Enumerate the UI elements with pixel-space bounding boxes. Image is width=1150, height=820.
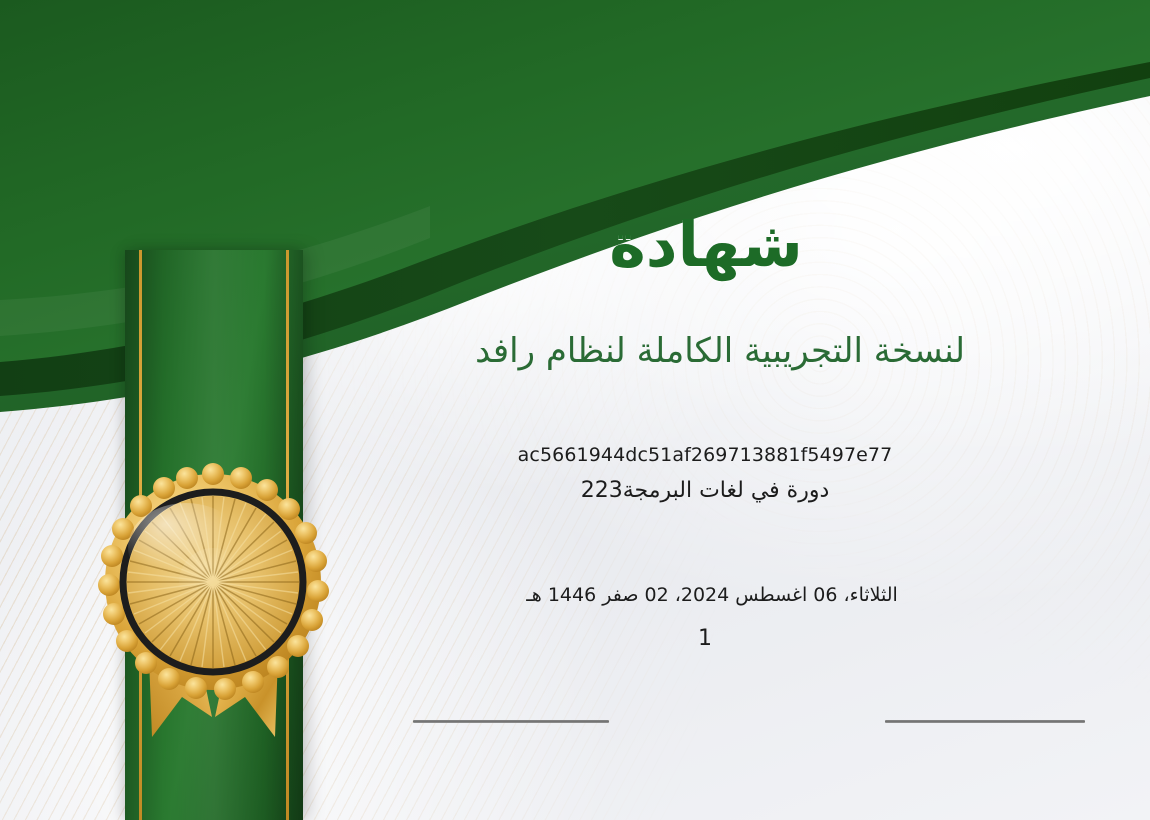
course-name: دورة في لغات البرمجة223 <box>330 478 1080 503</box>
certificate-subtitle: لنسخة التجريبية الكاملة لنظام رافد <box>330 330 1110 373</box>
signature-line-right <box>885 720 1085 723</box>
serial-number: 1 <box>330 626 1080 651</box>
certificate-content: شهادة لنسخة التجريبية الكاملة لنظام رافد… <box>330 0 1150 820</box>
certificate-canvas: شهادة لنسخة التجريبية الكاملة لنظام رافد… <box>0 0 1150 820</box>
seal-gloss-highlight <box>128 503 244 591</box>
issue-date: الثلاثاء، 06 اغسطس 2024، 02 صفر 1446 هـ <box>330 584 1094 606</box>
signature-line-left <box>413 720 609 723</box>
certificate-hash: ac5661944dc51af269713881f5497e77 <box>330 444 1080 466</box>
page-title: شهادة <box>330 214 1082 276</box>
gold-award-medal-seal <box>86 455 341 765</box>
